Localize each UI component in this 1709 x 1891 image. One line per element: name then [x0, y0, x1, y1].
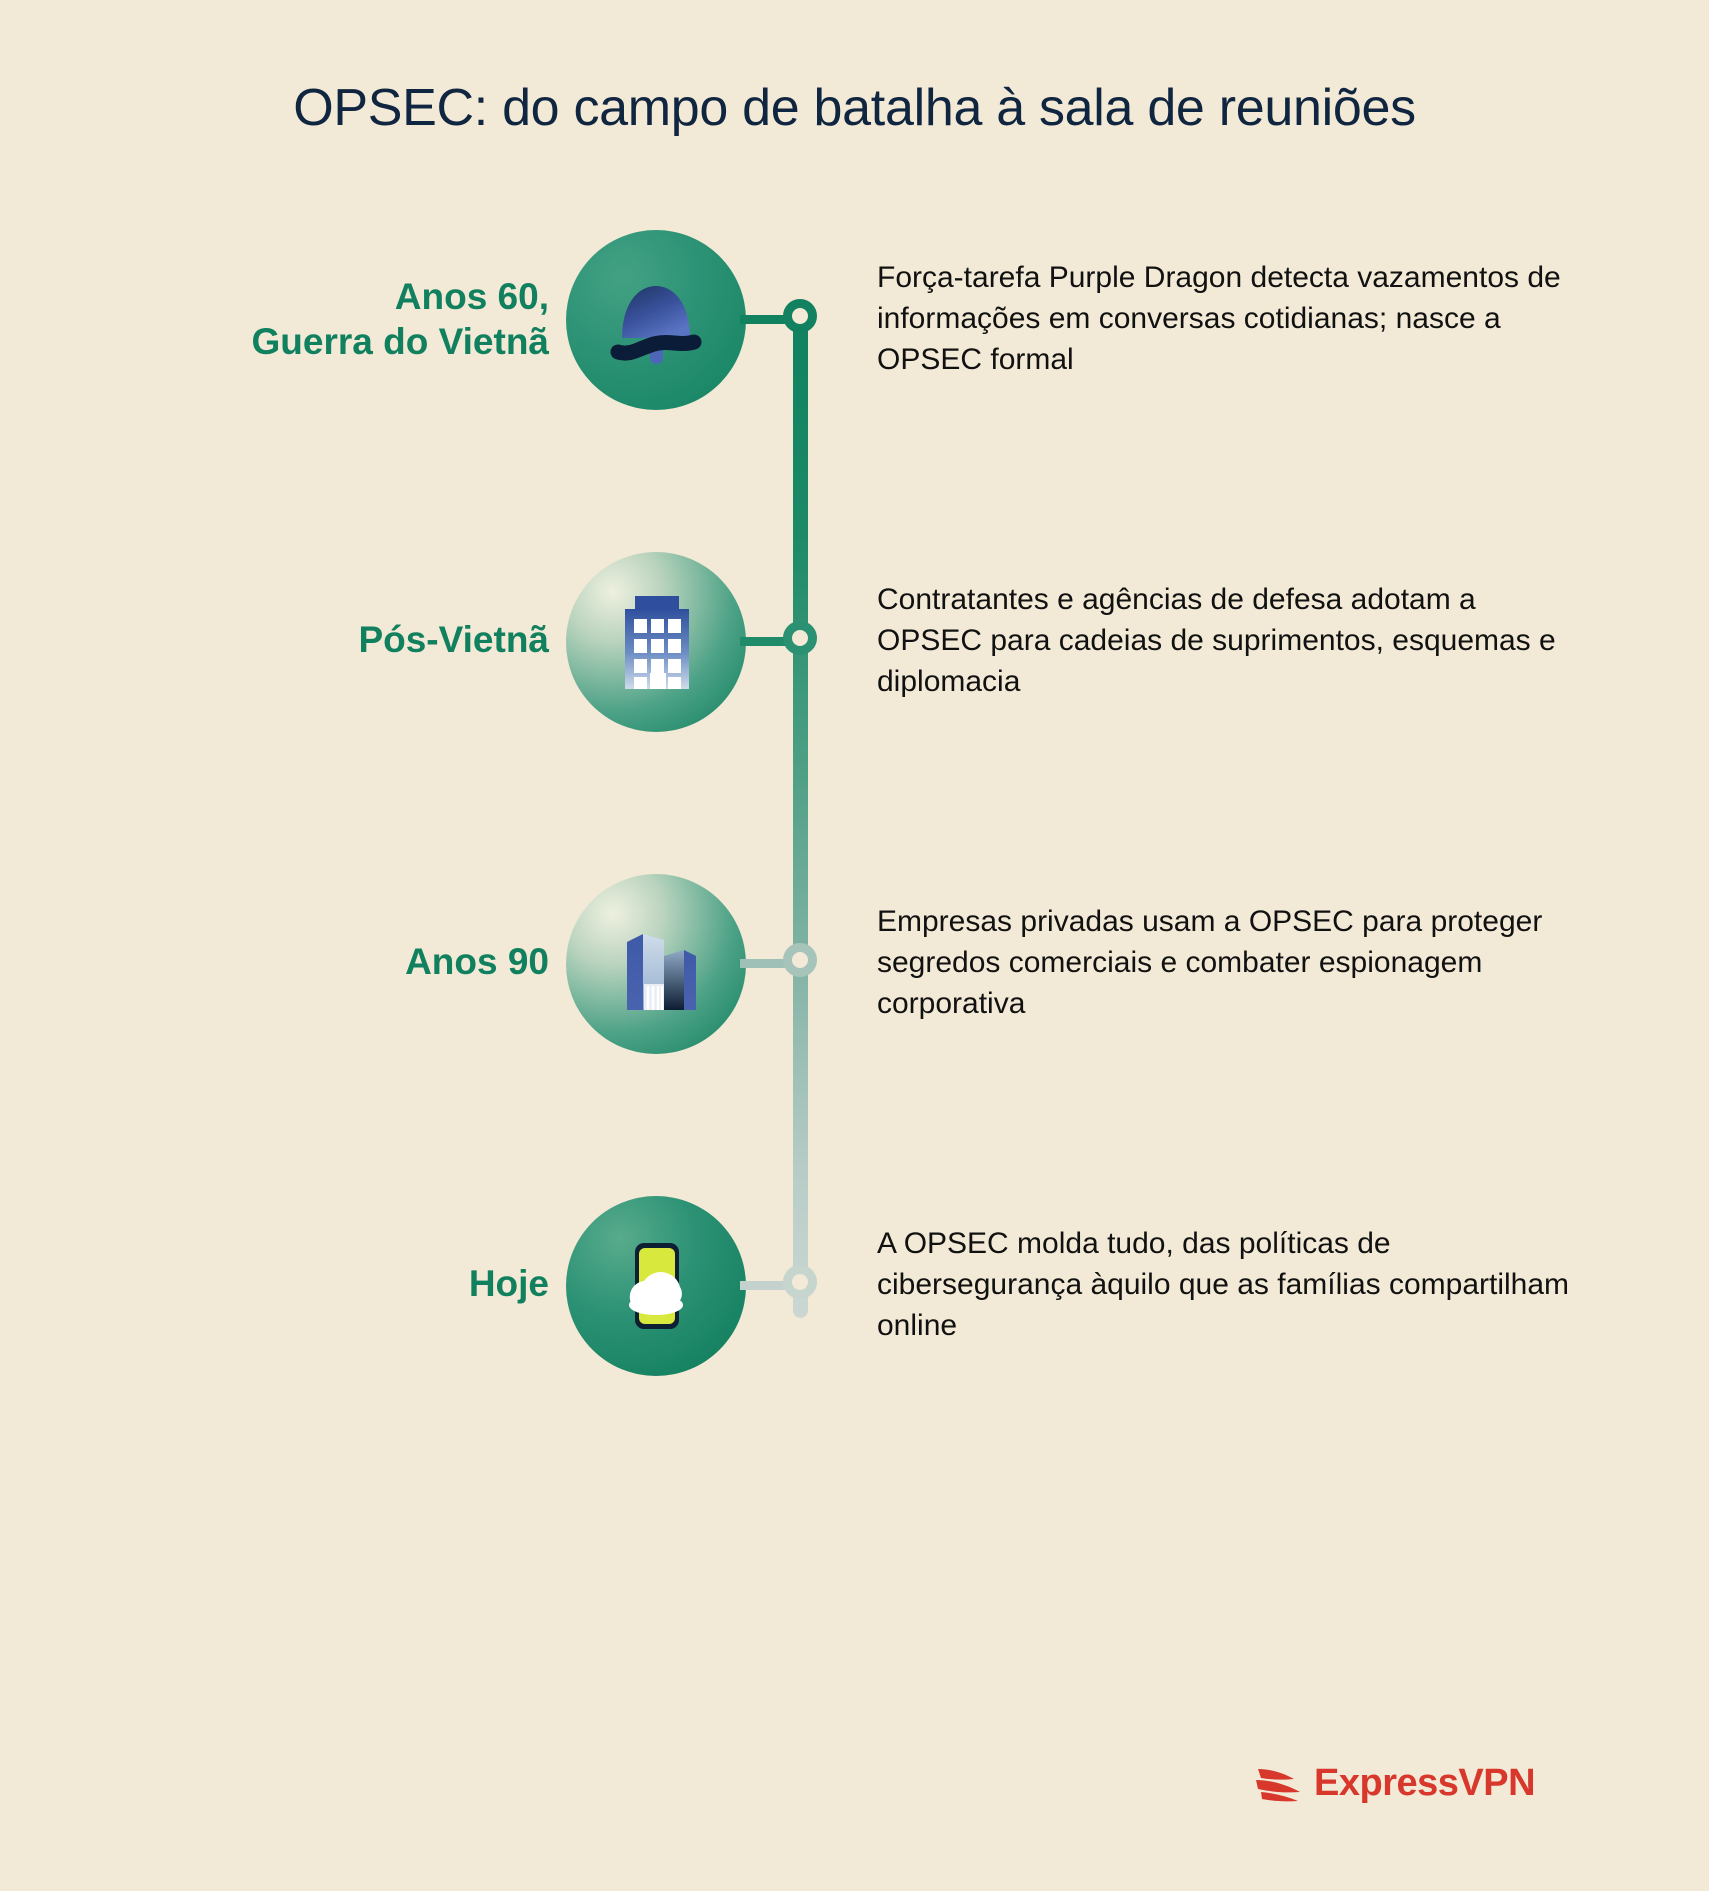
- timeline-label-line1: Anos 90: [405, 941, 549, 982]
- timeline-label: Pós-Vietnã: [29, 617, 549, 662]
- timeline-node[interactable]: [783, 1265, 817, 1299]
- timeline-connector-stub: [740, 315, 788, 324]
- timeline-icon-bubble: [566, 1196, 746, 1376]
- timeline-connector-stub: [740, 637, 788, 646]
- timeline-node[interactable]: [783, 299, 817, 333]
- expressvpn-logo[interactable]: ExpressVPN: [1253, 1760, 1535, 1806]
- page-title: OPSEC: do campo de batalha à sala de reu…: [0, 78, 1709, 138]
- timeline-label: Anos 60,Guerra do Vietnã: [29, 274, 549, 364]
- timeline-body-text: Empresas privadas usam a OPSEC para prot…: [877, 902, 1577, 1024]
- military-helmet-icon: [596, 260, 716, 380]
- timeline-label: Hoje: [29, 1261, 549, 1306]
- timeline-body-text: Contratantes e agências de defesa adotam…: [877, 580, 1577, 702]
- skyscrapers-icon: [600, 908, 712, 1020]
- timeline-label-line1: Pós-Vietnã: [358, 619, 549, 660]
- expressvpn-logo-text: ExpressVPN: [1314, 1762, 1535, 1805]
- timeline-icon-bubble: [566, 230, 746, 410]
- timeline-icon-bubble: [566, 874, 746, 1054]
- timeline-node[interactable]: [783, 943, 817, 977]
- timeline-label: Anos 90: [29, 939, 549, 984]
- timeline-spine: [793, 318, 808, 1318]
- expressvpn-logo-mark: [1253, 1760, 1305, 1806]
- timeline-body-text: A OPSEC molda tudo, das políticas de cib…: [877, 1224, 1577, 1346]
- timeline-connector-stub: [740, 1281, 788, 1290]
- infographic-page: OPSEC: do campo de batalha à sala de reu…: [0, 0, 1709, 1891]
- office-building-icon: [601, 587, 711, 697]
- timeline-body-text: Força-tarefa Purple Dragon detecta vazam…: [877, 258, 1577, 380]
- timeline-icon-bubble: [566, 552, 746, 732]
- smartphone-cloud-icon: [601, 1231, 711, 1341]
- timeline-node[interactable]: [783, 621, 817, 655]
- timeline-label-line2: Guerra do Vietnã: [252, 321, 549, 362]
- timeline-label-line1: Hoje: [469, 1263, 549, 1304]
- timeline-label-line1: Anos 60,: [395, 276, 549, 317]
- timeline-connector-stub: [740, 959, 788, 968]
